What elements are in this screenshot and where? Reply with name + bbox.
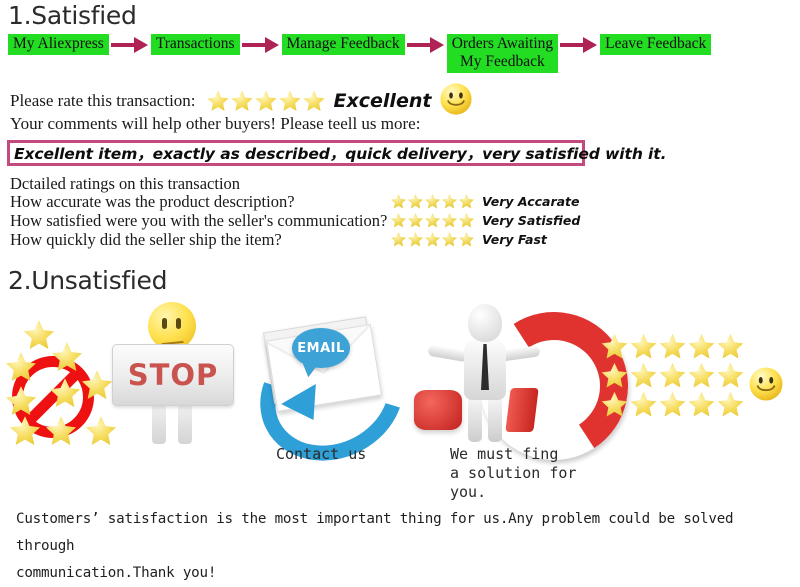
low-rating-star-cluster <box>4 318 124 440</box>
rate-prompt-label: Please rate this transaction: <box>10 91 196 111</box>
star-grid-row <box>600 361 740 390</box>
star-icon <box>50 340 84 374</box>
rating-star-1 <box>206 89 230 113</box>
star-icon <box>658 361 687 390</box>
star-icon <box>687 332 716 361</box>
detailed-rating-question: How satisfied were you with the seller's… <box>10 211 390 231</box>
right-arrow-icon <box>240 36 282 54</box>
star-icon <box>48 376 82 410</box>
email-caption: Contact us <box>276 445 366 464</box>
stop-sign-character: STOP <box>112 302 234 447</box>
star-icon <box>407 231 424 248</box>
flow-step-label: My Aliexpress <box>13 35 104 52</box>
star-icon <box>424 231 441 248</box>
star-icon <box>687 390 716 419</box>
star-icon <box>407 193 424 210</box>
detailed-rating-verdict: Very Satisfied <box>482 213 580 228</box>
detailed-rating-question: How quickly did the seller ship the item… <box>10 230 390 250</box>
detailed-rating-stars[interactable] <box>390 231 478 248</box>
star-icon <box>629 332 658 361</box>
unsatisfied-illustrations: STOP EMAIL Contact us We must fing a sol… <box>0 300 800 490</box>
footer-line-1: Customers’ satisfaction is the most impo… <box>16 506 786 560</box>
flow-step-5[interactable]: Leave Feedback <box>600 34 711 55</box>
smiley-sad-icon <box>148 302 196 350</box>
star-icon <box>458 193 475 210</box>
star-icon <box>629 361 658 390</box>
star-icon <box>600 361 629 390</box>
question-caption: We must fing a solution for you. <box>450 445 576 502</box>
smiley-happy-icon <box>748 366 784 407</box>
star-icon <box>458 212 475 229</box>
rating-star-2 <box>230 89 254 113</box>
star-icon <box>4 350 38 384</box>
detailed-rating-verdict: Very Accarate <box>482 194 580 209</box>
star-icon <box>716 390 745 419</box>
section-heading-satisfied: 1.Satisfied <box>8 1 137 30</box>
star-icon <box>441 231 458 248</box>
star-icon <box>716 332 745 361</box>
rating-verdict-label: Excellent <box>334 90 432 112</box>
flow-step-1[interactable]: My Aliexpress <box>8 34 109 55</box>
star-icon <box>600 332 629 361</box>
star-icon <box>407 212 424 229</box>
detailed-rating-stars[interactable] <box>390 193 478 210</box>
right-arrow-icon <box>558 36 600 54</box>
detailed-rating-row: How satisfied were you with the seller's… <box>10 211 590 230</box>
flow-step-2[interactable]: Transactions <box>151 34 240 55</box>
flow-step-3[interactable]: Manage Feedback <box>282 34 405 55</box>
detailed-rating-question: How accurate was the product description… <box>10 192 390 212</box>
comment-text: Excellent item，exactly as described，quic… <box>10 142 666 164</box>
star-icon <box>4 384 38 418</box>
smiley-happy-icon <box>439 82 473 121</box>
comment-input-box[interactable]: Excellent item，exactly as described，quic… <box>7 140 585 166</box>
star-icon <box>8 414 42 448</box>
email-bubble-label: EMAIL <box>297 341 345 356</box>
detailed-rating-row: How quickly did the seller ship the item… <box>10 230 590 249</box>
star-icon <box>716 361 745 390</box>
star-icon <box>80 368 114 402</box>
section-heading-unsatisfied: 2.Unsatisfied <box>8 266 167 295</box>
right-arrow-icon <box>109 36 151 54</box>
star-icon <box>424 193 441 210</box>
star-icon <box>458 231 475 248</box>
flow-step-4[interactable]: Orders Awaiting My Feedback <box>447 34 558 73</box>
rating-star-4 <box>278 89 302 113</box>
flow-step-label: Manage Feedback <box>287 35 400 52</box>
star-icon <box>390 193 407 210</box>
detailed-rating-row: How accurate was the product description… <box>10 192 590 211</box>
star-icon <box>629 390 658 419</box>
detailed-rating-stars[interactable] <box>390 212 478 229</box>
star-icon <box>600 390 629 419</box>
star-grid-row <box>600 390 740 419</box>
right-arrow-icon <box>405 36 447 54</box>
rating-star-3 <box>254 89 278 113</box>
detailed-ratings-list: How accurate was the product description… <box>10 192 590 249</box>
flow-step-label: Transactions <box>156 35 235 52</box>
star-icon <box>424 212 441 229</box>
star-icon <box>441 193 458 210</box>
flow-step-label: Orders Awaiting My Feedback <box>452 35 553 70</box>
stop-sign-label: STOP <box>128 358 219 392</box>
comments-prompt-label: Your comments will help other buyers! Pl… <box>10 114 420 134</box>
stop-sign-board: STOP <box>112 344 234 406</box>
star-icon <box>658 332 687 361</box>
five-star-grid <box>600 332 740 419</box>
star-icon <box>390 231 407 248</box>
star-icon <box>687 361 716 390</box>
star-icon <box>658 390 687 419</box>
star-icon <box>390 212 407 229</box>
star-grid-row <box>600 332 740 361</box>
rating-stars[interactable] <box>206 89 326 113</box>
footer-message: Customers’ satisfaction is the most impo… <box>16 506 786 587</box>
star-icon <box>44 414 78 448</box>
rating-star-5 <box>302 89 326 113</box>
star-icon <box>441 212 458 229</box>
footer-line-2: communication.Thank you! <box>16 560 786 587</box>
flow-step-label: Leave Feedback <box>605 35 706 52</box>
navigation-flow-diagram: My AliexpressTransactionsManage Feedback… <box>8 34 794 72</box>
question-mark-dot-icon <box>414 390 462 430</box>
rate-transaction-row: Please rate this transaction: Excellent <box>10 88 480 114</box>
email-speech-bubble: EMAIL <box>292 328 350 368</box>
detailed-rating-verdict: Very Fast <box>482 232 547 247</box>
